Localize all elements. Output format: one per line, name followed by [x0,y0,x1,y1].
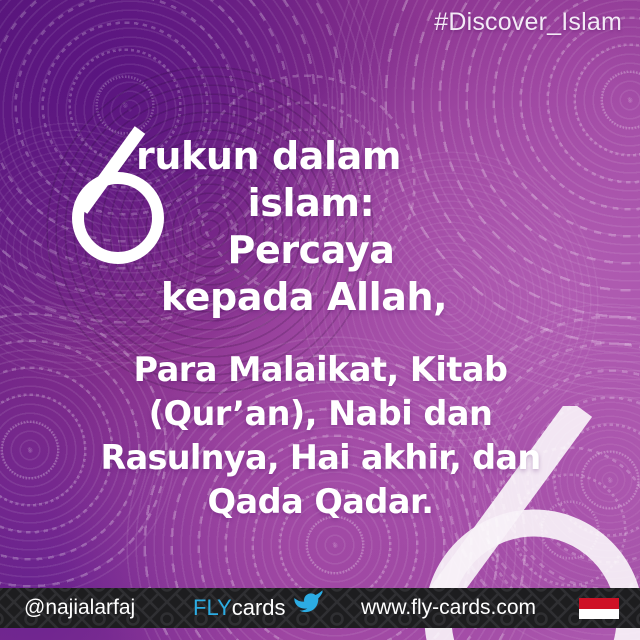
flag-stripe-white [579,609,619,620]
flycards-brand-logo[interactable]: FLYcards [193,595,286,621]
headline-line-2: islam: [130,180,492,227]
body-line-1: Para Malaikat, Kitab [48,348,593,392]
headline-line-4: kepada Allah, [116,274,492,321]
headline-line-3: Percaya [130,227,492,274]
hashtag-label: #Discover_Islam [434,8,622,37]
footer-bar: @najialarfaj FLYcards www.fly-cards.com [0,588,640,628]
twitter-handle-label[interactable]: @najialarfaj [24,596,135,620]
body-line-2: (Qur’an), Nabi dan [48,392,593,436]
bottom-background-strip [0,628,640,640]
body-text: Para Malaikat, Kitab (Qur’an), Nabi dan … [48,348,593,524]
brand-primary-text: FLY [193,595,232,620]
headline-line-1: rukun dalam [136,133,492,180]
website-url-label[interactable]: www.fly-cards.com [361,596,536,620]
body-line-3: Rasulnya, Hai akhir, dan [48,436,593,480]
headline-text: rukun dalam islam: Percaya kepada Allah, [130,133,492,321]
discover-islam-card: #Discover_Islam rukun dalam islam: Perca… [0,0,640,640]
flag-stripe-red [579,598,619,609]
body-line-4: Qada Qadar. [48,480,593,524]
indonesia-flag-icon [579,598,619,619]
bird-icon [292,589,326,613]
bottom-strip-fill [0,628,640,640]
brand-secondary-text: cards [232,595,286,620]
